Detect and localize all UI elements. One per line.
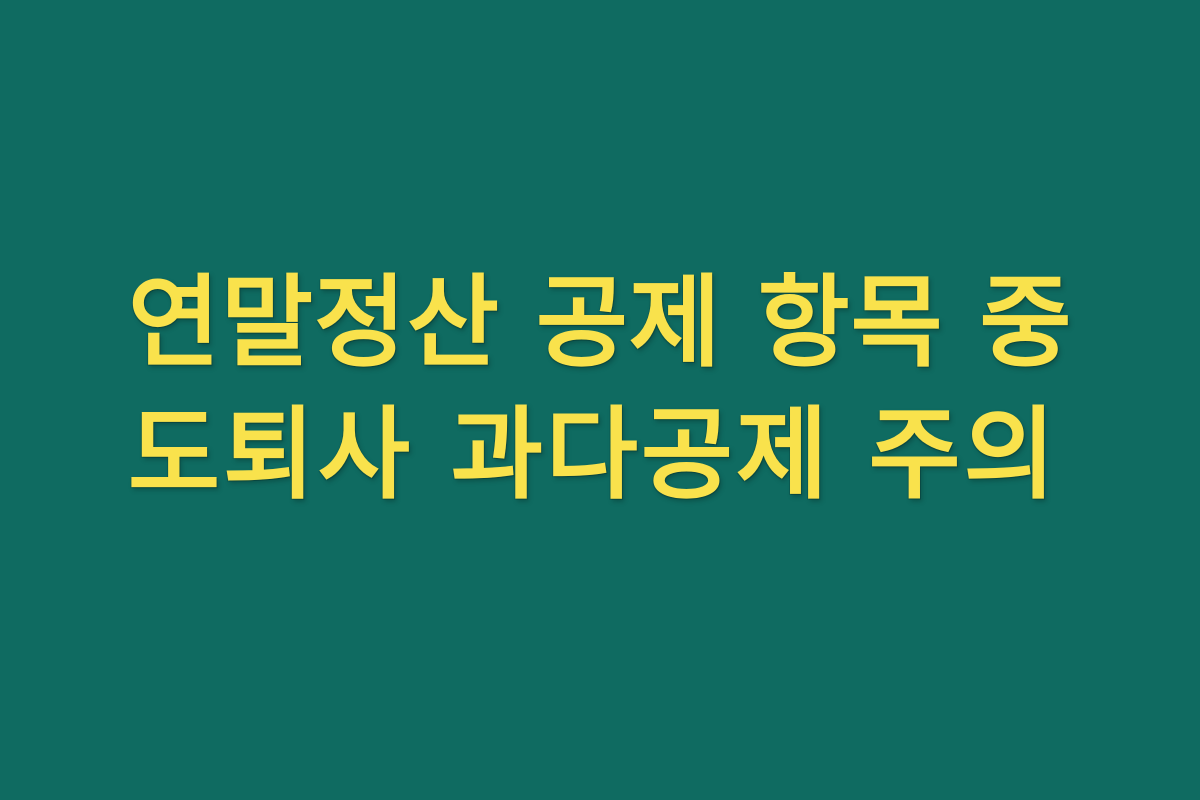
thumbnail-card: 연말정산 공제 항목 중 도퇴사 과다공제 주의 [0, 0, 1200, 800]
headline-line-2: 도퇴사 과다공제 주의 [128, 400, 1088, 510]
headline-line-1: 연말정산 공제 항목 중 [128, 268, 1088, 378]
headline-block: 연말정산 공제 항목 중 도퇴사 과다공제 주의 [128, 268, 1088, 510]
